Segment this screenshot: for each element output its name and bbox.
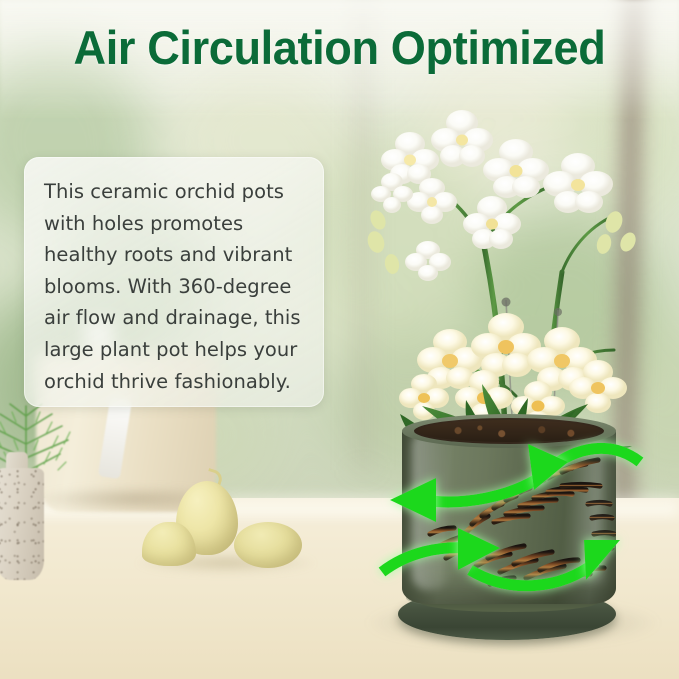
decorative-stone-right	[234, 522, 302, 568]
stone-vase	[0, 468, 44, 580]
page-title: Air Circulation Optimized	[14, 20, 666, 75]
description-panel: This ceramic orchid pots with holes prom…	[24, 157, 324, 407]
fern-cutout-pattern	[402, 438, 616, 598]
product-banner: Air Circulation Optimized This ceramic o…	[0, 0, 679, 679]
description-text: This ceramic orchid pots with holes prom…	[44, 176, 308, 397]
